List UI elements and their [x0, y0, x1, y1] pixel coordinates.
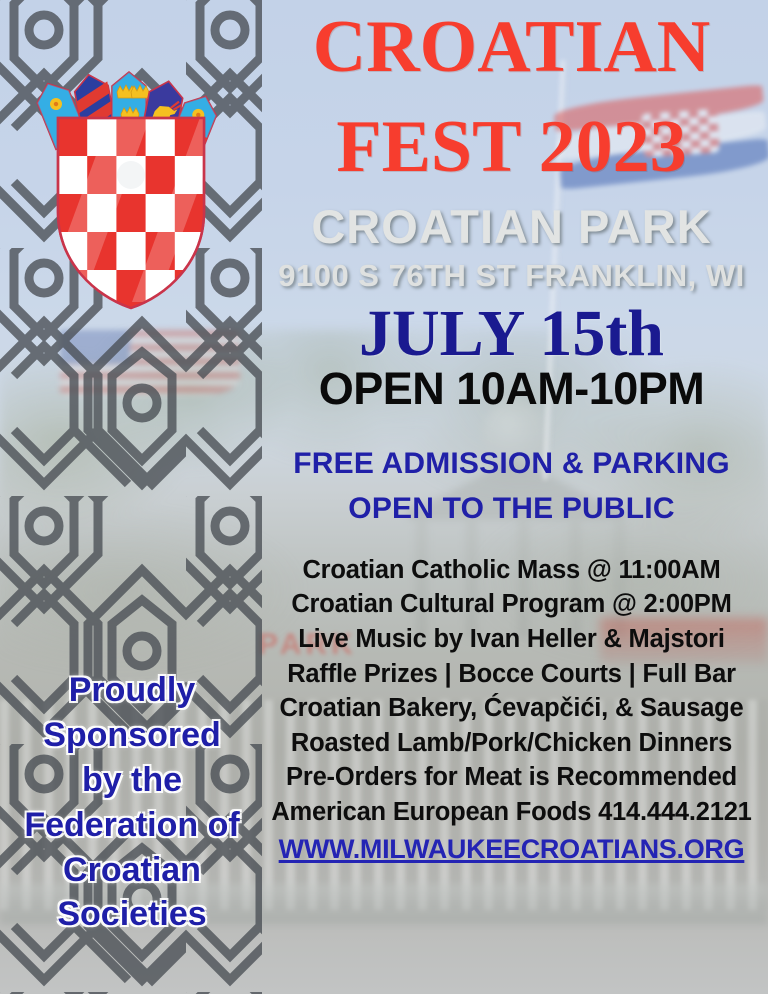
venue-name: CROATIAN PARK: [255, 199, 768, 254]
admission-line: OPEN TO THE PUBLIC: [255, 486, 768, 531]
detail-line: American European Foods 414.444.2121: [255, 795, 768, 830]
event-date: JULY 15th: [255, 300, 768, 367]
sponsor-line: Federation of: [8, 803, 256, 848]
croatian-fest-poster: PARK: [0, 0, 768, 994]
detail-line: Pre-Orders for Meat is Recommended: [255, 760, 768, 795]
detail-line: Croatian Catholic Mass @ 11:00AM: [255, 553, 768, 588]
sponsor-line: Proudly: [8, 668, 256, 713]
sponsor-credit: Proudly Sponsored by the Federation of C…: [8, 668, 256, 937]
detail-line: Live Music by Ivan Heller & Majstori: [255, 622, 768, 657]
poster-title-line2: FEST 2023: [255, 112, 768, 182]
event-hours: OPEN 10AM-10PM: [255, 363, 768, 415]
croatian-coat-of-arms-icon: [22, 52, 240, 322]
sponsor-line: Croatian: [8, 848, 256, 893]
website-link[interactable]: WWW.MILWAUKEECROATIANS.ORG: [255, 831, 768, 868]
admission-info: FREE ADMISSION & PARKING OPEN TO THE PUB…: [255, 441, 768, 531]
sponsor-line: Societies: [8, 892, 256, 937]
detail-line: Croatian Bakery, Ćevapčići, & Sausage: [255, 691, 768, 726]
detail-line: Raffle Prizes | Bocce Courts | Full Bar: [255, 657, 768, 692]
coat-of-arms-shield: [42, 112, 227, 310]
detail-line: Croatian Cultural Program @ 2:00PM: [255, 587, 768, 622]
venue-address: 9100 S 76TH ST FRANKLIN, WI: [255, 258, 768, 294]
admission-line: FREE ADMISSION & PARKING: [255, 441, 768, 486]
sponsor-line: Sponsored: [8, 713, 256, 758]
poster-content: CROATIAN FEST 2023 CROATIAN PARK 9100 S …: [255, 0, 768, 994]
poster-title-line1: CROATIAN: [255, 12, 768, 82]
sponsor-line: by the: [8, 758, 256, 803]
event-details-list: Croatian Catholic Mass @ 11:00AM Croatia…: [255, 553, 768, 868]
detail-line: Roasted Lamb/Pork/Chicken Dinners: [255, 726, 768, 761]
